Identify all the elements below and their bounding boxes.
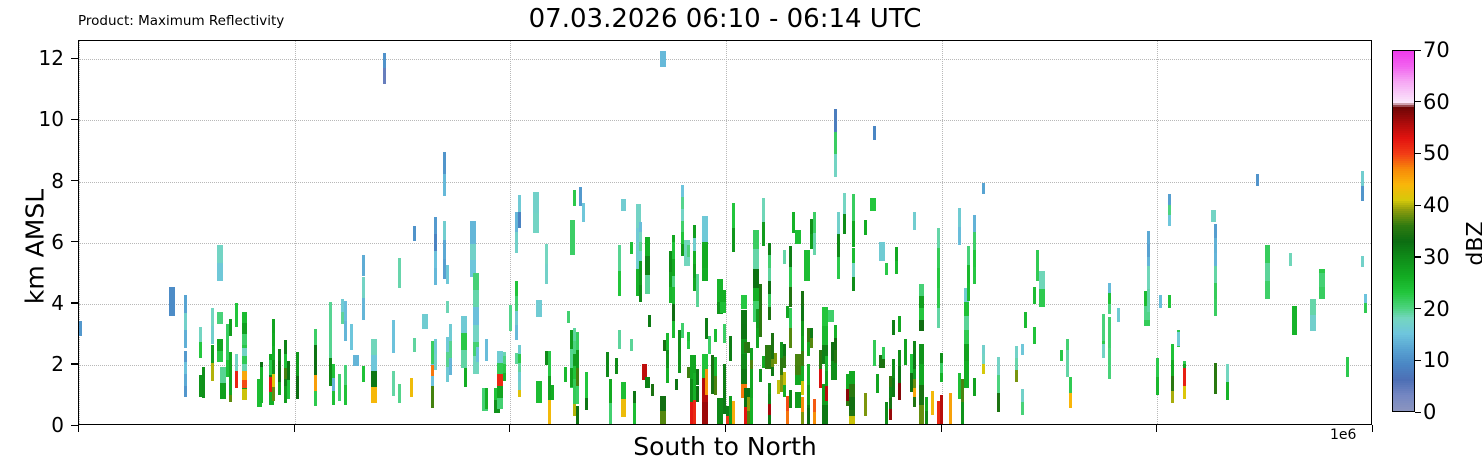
reflectivity-cell — [913, 397, 916, 406]
reflectivity-cell — [1147, 266, 1150, 289]
reflectivity-cell — [582, 203, 585, 221]
reflectivity-cell — [260, 385, 263, 403]
reflectivity-cell — [937, 308, 940, 328]
reflectivity-cell — [576, 386, 579, 404]
reflectivity-cell — [217, 339, 223, 350]
reflectivity-cell — [807, 385, 810, 405]
reflectivity-cell — [849, 397, 855, 410]
colorbar-tick-mark — [1415, 101, 1421, 102]
reflectivity-cell — [898, 366, 901, 383]
reflectivity-cell — [967, 265, 970, 283]
reflectivity-cell — [937, 248, 940, 268]
reflectivity-cell — [576, 350, 579, 368]
reflectivity-cell — [702, 216, 708, 242]
reflectivity-cell — [242, 348, 248, 356]
reflectivity-cell — [344, 301, 347, 321]
reflectivity-cell — [1214, 299, 1217, 315]
reflectivity-cell — [849, 384, 855, 397]
reflectivity-cell — [497, 351, 503, 363]
reflectivity-cell — [1069, 377, 1072, 393]
reflectivity-cell — [272, 387, 275, 401]
x-tick-mark — [1156, 425, 1157, 432]
reflectivity-cell — [235, 354, 238, 371]
reflectivity-field — [79, 41, 1371, 424]
reflectivity-cell — [693, 225, 696, 238]
reflectivity-cell — [807, 364, 810, 384]
reflectivity-cell — [618, 271, 621, 296]
reflectivity-cell — [184, 386, 187, 398]
reflectivity-cell — [371, 387, 377, 403]
reflectivity-cell — [242, 312, 248, 323]
reflectivity-cell — [982, 364, 985, 374]
reflectivity-cell — [931, 391, 934, 415]
reflectivity-cell — [518, 372, 521, 381]
reflectivity-cell — [913, 350, 916, 359]
reflectivity-cell — [741, 295, 747, 310]
reflectivity-cell — [1108, 304, 1111, 315]
reflectivity-cell — [1066, 350, 1069, 377]
colorbar-tick-label: 70 — [1423, 38, 1450, 62]
reflectivity-cell — [964, 361, 970, 388]
reflectivity-cell — [834, 350, 837, 362]
reflectivity-cell — [220, 367, 226, 383]
reflectivity-cell — [705, 369, 708, 395]
colorbar-tick-label: 20 — [1423, 297, 1450, 321]
reflectivity-cell — [443, 240, 446, 259]
reflectivity-cell — [801, 366, 804, 381]
reflectivity-cell — [576, 406, 579, 425]
reflectivity-cell — [344, 321, 347, 341]
reflectivity-cell — [497, 398, 503, 410]
reflectivity-cell — [834, 132, 837, 155]
reflectivity-cell — [768, 307, 771, 320]
reflectivity-cell — [576, 368, 579, 386]
x-tick-mark — [294, 425, 295, 432]
reflectivity-cell — [919, 320, 925, 332]
reflectivity-cell — [314, 375, 317, 390]
reflectivity-cell — [272, 333, 275, 347]
reflectivity-cell — [1024, 312, 1027, 328]
reflectivity-cell — [1364, 294, 1367, 303]
y-tick-label: 4 — [51, 291, 64, 315]
reflectivity-cell — [795, 354, 801, 364]
reflectivity-cell — [765, 345, 771, 370]
x-tick-mark — [509, 425, 510, 432]
reflectivity-cell — [1310, 299, 1316, 315]
reflectivity-cell — [843, 193, 846, 213]
y-tick-label: 2 — [51, 352, 64, 376]
reflectivity-cell — [801, 381, 804, 396]
reflectivity-cell — [1147, 244, 1150, 257]
reflectivity-cell — [509, 305, 512, 331]
colorbar-tick-label: 10 — [1423, 348, 1450, 372]
reflectivity-cell — [184, 374, 187, 386]
reflectivity-cell — [1102, 314, 1105, 341]
reflectivity-cell — [666, 354, 669, 368]
reflectivity-cell — [576, 332, 579, 350]
reflectivity-cell — [801, 397, 804, 411]
reflectivity-cell — [786, 411, 789, 425]
reflectivity-cell — [958, 208, 961, 227]
reflectivity-cell — [852, 263, 855, 277]
reflectivity-cell — [211, 308, 214, 326]
reflectivity-cell — [759, 310, 762, 337]
reflectivity-cell — [789, 390, 792, 409]
reflectivity-cell — [949, 393, 952, 425]
colorbar-tick-label: 60 — [1423, 90, 1450, 114]
reflectivity-cell — [545, 244, 548, 264]
reflectivity-cell — [242, 371, 248, 380]
reflectivity-cell — [913, 369, 916, 378]
reflectivity-cell — [184, 313, 187, 331]
reflectivity-cell — [314, 360, 317, 375]
x-axis-offset-label: 1e6 — [1330, 427, 1356, 443]
reflectivity-cell — [681, 209, 684, 221]
reflectivity-cell — [795, 392, 801, 408]
reflectivity-cell — [645, 237, 651, 256]
reflectivity-cell — [789, 267, 792, 287]
reflectivity-cell — [982, 183, 985, 194]
y-tick-mark — [71, 58, 78, 59]
reflectivity-cell — [807, 408, 810, 425]
reflectivity-cell — [687, 341, 690, 349]
reflectivity-cell — [813, 212, 816, 234]
reflectivity-cell — [964, 316, 970, 330]
reflectivity-cell — [873, 126, 876, 140]
reflectivity-cell — [392, 371, 395, 396]
reflectivity-cell — [278, 368, 281, 382]
reflectivity-cell — [783, 250, 786, 264]
reflectivity-cell — [937, 288, 940, 308]
reflectivity-cell — [1214, 363, 1217, 394]
reflectivity-cell — [913, 379, 916, 388]
colorbar-tick-mark — [1415, 412, 1421, 413]
reflectivity-cell — [964, 330, 970, 344]
reflectivity-cell — [229, 352, 232, 374]
reflectivity-cell — [795, 230, 801, 244]
reflectivity-cell — [434, 217, 437, 234]
reflectivity-cell — [434, 251, 437, 268]
reflectivity-cell — [973, 232, 976, 249]
reflectivity-cell — [461, 316, 467, 333]
reflectivity-cell — [473, 290, 479, 307]
reflectivity-cell — [314, 345, 317, 360]
reflectivity-cell — [973, 250, 976, 267]
reflectivity-cell — [434, 339, 437, 354]
reflectivity-cell — [852, 277, 855, 291]
reflectivity-cell — [837, 212, 840, 235]
reflectivity-cell — [235, 371, 238, 388]
reflectivity-cell — [898, 383, 901, 400]
reflectivity-cell — [687, 332, 690, 340]
reflectivity-cell — [1211, 210, 1217, 222]
reflectivity-cell — [344, 365, 347, 385]
reflectivity-cell — [79, 321, 82, 335]
reflectivity-cell — [645, 377, 651, 388]
y-tick-label: 8 — [51, 169, 64, 193]
x-tick-mark — [78, 425, 79, 432]
reflectivity-cell — [1361, 186, 1364, 201]
reflectivity-cell — [1364, 303, 1367, 312]
reflectivity-cell — [837, 234, 840, 257]
reflectivity-cell — [741, 354, 747, 369]
reflectivity-cell — [217, 351, 223, 362]
reflectivity-cell — [633, 391, 636, 403]
colorbar-tick-mark — [1415, 256, 1421, 257]
reflectivity-cell — [573, 190, 576, 207]
reflectivity-cell — [184, 362, 187, 374]
reflectivity-cell — [1156, 358, 1159, 376]
reflectivity-cell — [413, 226, 416, 241]
reflectivity-cell — [1171, 360, 1174, 376]
reflectivity-cell — [714, 376, 717, 395]
reflectivity-cell — [609, 403, 612, 425]
reflectivity-cell — [272, 360, 275, 374]
reflectivity-cell — [744, 342, 750, 353]
reflectivity-cell — [362, 255, 365, 277]
reflectivity-cell — [660, 396, 666, 411]
x-tick-mark — [725, 425, 726, 432]
reflectivity-cell — [1226, 364, 1229, 382]
colorbar-tick-mark — [1415, 205, 1421, 206]
reflectivity-cell — [967, 246, 970, 264]
reflectivity-cell — [879, 242, 885, 261]
reflectivity-cell — [723, 364, 726, 389]
reflectivity-cell — [518, 363, 521, 372]
reflectivity-cell — [633, 403, 636, 425]
colorbar-tick-mark — [1415, 360, 1421, 361]
reflectivity-cell — [362, 366, 365, 382]
reflectivity-cell — [284, 340, 287, 354]
reflectivity-cell — [242, 323, 248, 334]
reflectivity-cell — [1039, 289, 1045, 307]
reflectivity-cell — [332, 364, 335, 378]
reflectivity-cell — [606, 352, 609, 377]
reflectivity-cell — [666, 368, 669, 382]
reflectivity-cell — [937, 228, 940, 248]
reflectivity-cell — [278, 382, 281, 396]
reflectivity-cell — [1171, 344, 1174, 360]
reflectivity-cell — [350, 324, 353, 350]
reflectivity-cell — [235, 303, 238, 327]
reflectivity-cell — [771, 367, 774, 376]
reflectivity-cell — [639, 222, 642, 232]
reflectivity-cell — [973, 378, 976, 397]
y-tick-mark — [71, 241, 78, 242]
reflectivity-cell — [813, 412, 816, 425]
reflectivity-cell — [564, 367, 567, 382]
reflectivity-cell — [834, 109, 837, 132]
reflectivity-cell — [272, 319, 275, 333]
reflectivity-cell — [1265, 263, 1271, 281]
reflectivity-cell — [443, 174, 446, 196]
reflectivity-cell — [548, 400, 551, 425]
reflectivity-cell — [1168, 205, 1171, 216]
reflectivity-cell — [672, 287, 675, 304]
reflectivity-cell — [609, 379, 612, 402]
reflectivity-cell — [750, 398, 753, 425]
reflectivity-cell — [1168, 194, 1171, 205]
reflectivity-cell — [585, 397, 588, 410]
reflectivity-cell — [831, 361, 837, 380]
reflectivity-cell — [639, 232, 642, 242]
colorbar — [1392, 50, 1415, 412]
reflectivity-cell — [1177, 332, 1180, 346]
reflectivity-cell — [768, 394, 771, 405]
reflectivity-cell — [639, 268, 642, 285]
reflectivity-cell — [672, 304, 675, 321]
y-tick-label: 12 — [39, 46, 64, 70]
plot-area — [78, 40, 1372, 425]
reflectivity-cell — [810, 338, 813, 348]
reflectivity-cell — [485, 388, 488, 410]
reflectivity-cell — [211, 345, 214, 363]
reflectivity-cell — [801, 336, 804, 351]
reflectivity-cell — [1214, 224, 1217, 239]
reflectivity-cell — [774, 353, 777, 364]
reflectivity-cell — [645, 275, 651, 294]
reflectivity-cell — [687, 245, 690, 257]
reflectivity-cell — [329, 330, 332, 358]
reflectivity-cell — [585, 372, 588, 398]
reflectivity-cell — [449, 324, 452, 341]
reflectivity-cell — [1214, 266, 1217, 282]
reflectivity-cell — [242, 334, 248, 345]
reflectivity-cell — [892, 378, 895, 397]
reflectivity-cell — [768, 243, 771, 256]
reflectivity-cell — [464, 368, 467, 387]
reflectivity-cell — [1147, 231, 1150, 244]
reflectivity-cell — [925, 411, 928, 425]
reflectivity-cell — [329, 302, 332, 330]
reflectivity-cell — [551, 385, 554, 400]
reflectivity-cell — [518, 195, 521, 212]
reflectivity-cell — [332, 391, 335, 405]
y-tick-mark — [71, 180, 78, 181]
reflectivity-cell — [741, 310, 747, 325]
reflectivity-cell — [570, 220, 576, 255]
reflectivity-cell — [1292, 306, 1298, 334]
reflectivity-cell — [639, 251, 642, 261]
reflectivity-cell — [272, 374, 275, 388]
reflectivity-cell — [169, 287, 175, 316]
x-tick-mark — [941, 425, 942, 432]
reflectivity-cell — [973, 215, 976, 232]
reflectivity-cell — [801, 306, 804, 321]
reflectivity-cell — [184, 351, 187, 363]
reflectivity-cell — [864, 220, 867, 234]
reflectivity-cell — [413, 338, 416, 353]
reflectivity-cell — [473, 325, 479, 342]
reflectivity-cell — [1021, 402, 1024, 415]
colorbar-tick-mark — [1415, 50, 1421, 51]
reflectivity-cell — [1015, 370, 1018, 382]
reflectivity-cell — [675, 379, 678, 390]
reflectivity-cell — [497, 363, 503, 375]
reflectivity-cell — [919, 385, 925, 406]
reflectivity-cell — [1015, 358, 1018, 370]
reflectivity-cell — [260, 367, 263, 385]
x-axis-label: South to North — [78, 432, 1372, 461]
reflectivity-cell — [801, 291, 804, 306]
reflectivity-cell — [229, 319, 232, 336]
reflectivity-cell — [567, 311, 570, 324]
reflectivity-cell — [434, 268, 437, 285]
reflectivity-cell — [892, 359, 895, 378]
reflectivity-cell — [852, 194, 855, 220]
reflectivity-cell — [651, 384, 654, 396]
reflectivity-cell — [693, 238, 696, 251]
reflectivity-cell — [398, 384, 401, 403]
reflectivity-cell — [461, 350, 467, 367]
reflectivity-cell — [446, 265, 449, 284]
reflectivity-cell — [332, 378, 335, 392]
reflectivity-cell — [789, 328, 792, 348]
reflectivity-cell — [470, 244, 476, 260]
reflectivity-cell — [870, 198, 876, 211]
reflectivity-cell — [1361, 171, 1364, 186]
reflectivity-cell — [639, 285, 642, 302]
reflectivity-cell — [789, 308, 792, 328]
reflectivity-cell — [242, 356, 248, 364]
y-tick-mark — [71, 119, 78, 120]
reflectivity-cell — [242, 380, 248, 389]
reflectivity-cell — [211, 363, 214, 381]
reflectivity-cell — [702, 402, 708, 425]
reflectivity-cell — [885, 263, 888, 274]
reflectivity-cell — [287, 361, 290, 380]
reflectivity-cell — [621, 199, 627, 211]
reflectivity-cell — [759, 369, 762, 381]
reflectivity-cell — [678, 352, 681, 374]
reflectivity-cell — [1171, 376, 1174, 392]
reflectivity-cell — [518, 345, 521, 354]
reflectivity-cell — [431, 386, 434, 408]
reflectivity-cell — [296, 352, 299, 376]
reflectivity-cell — [919, 308, 925, 320]
reflectivity-cell — [892, 320, 895, 335]
reflectivity-cell — [1108, 293, 1111, 304]
reflectivity-cell — [696, 386, 699, 402]
reflectivity-cell — [768, 415, 771, 425]
reflectivity-cell — [967, 283, 970, 301]
reflectivity-cell — [446, 301, 449, 313]
page-title: 07.03.2026 06:10 - 06:14 UTC — [78, 4, 1372, 34]
reflectivity-cell — [473, 273, 479, 290]
reflectivity-cell — [898, 316, 901, 332]
reflectivity-cell — [964, 302, 970, 316]
y-tick-mark — [71, 425, 78, 426]
reflectivity-cell — [732, 203, 735, 227]
reflectivity-cell — [813, 233, 816, 255]
reflectivity-cell — [672, 321, 675, 338]
reflectivity-cell — [961, 402, 964, 425]
reflectivity-cell — [843, 214, 846, 234]
reflectivity-cell — [473, 307, 479, 324]
reflectivity-cell — [681, 323, 684, 338]
colorbar-band — [1393, 50, 1414, 53]
reflectivity-cell — [515, 232, 518, 253]
reflectivity-cell — [1319, 273, 1325, 287]
reflectivity-cell — [1265, 281, 1271, 299]
reflectivity-cell — [1102, 344, 1105, 358]
reflectivity-cell — [1021, 389, 1024, 402]
reflectivity-cell — [789, 287, 792, 307]
reflectivity-cell — [1108, 317, 1111, 348]
reflectivity-cell — [696, 274, 699, 307]
reflectivity-cell — [515, 296, 518, 311]
colorbar-tick-label: 0 — [1423, 400, 1436, 424]
